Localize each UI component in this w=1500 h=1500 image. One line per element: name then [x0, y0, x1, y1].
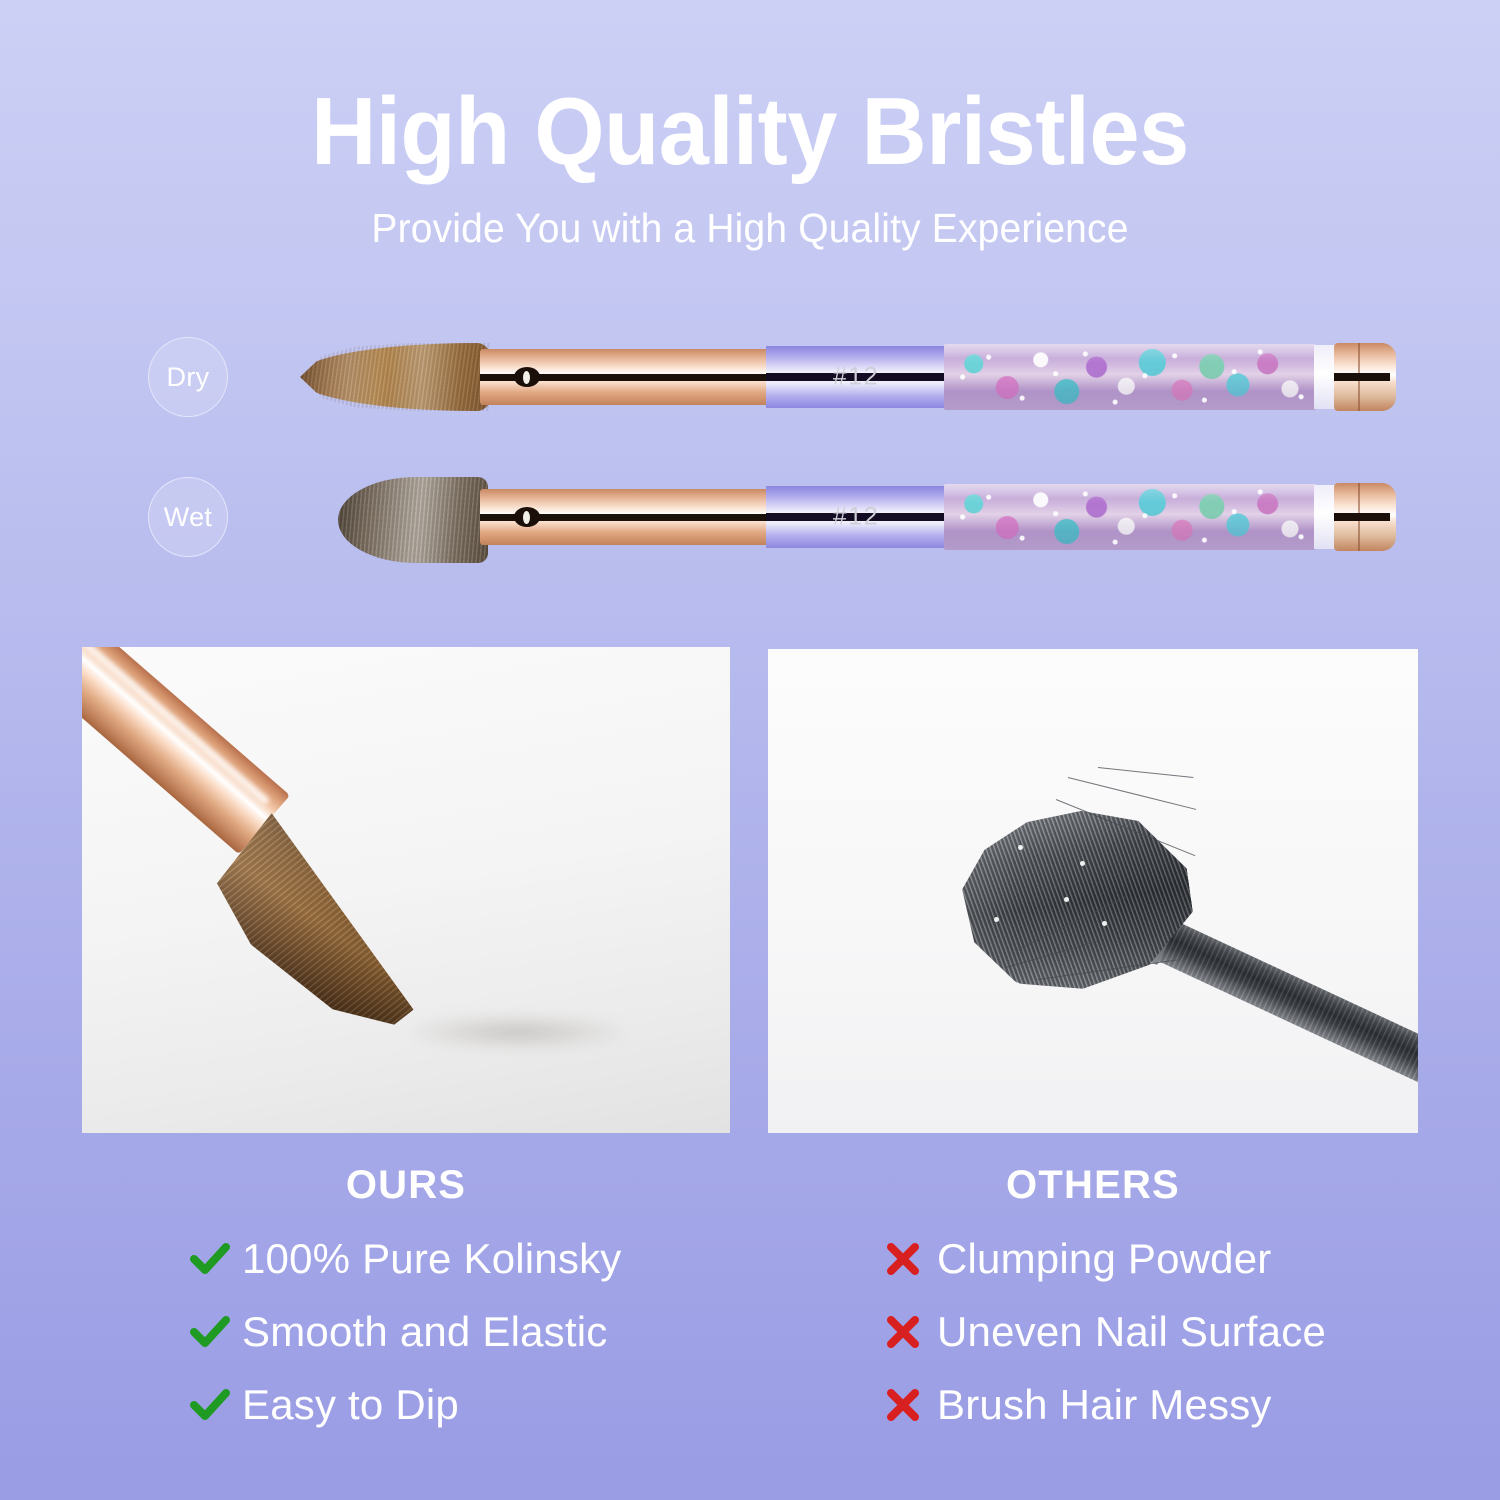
list-item-label: Brush Hair Messy	[937, 1381, 1272, 1429]
column-heading-ours: OURS	[82, 1163, 730, 1208]
check-icon	[190, 1315, 242, 1349]
handle-clear-gap-wet	[1314, 485, 1336, 549]
photo-ours-brush-tip	[82, 647, 730, 1133]
bristle-sparkle	[1080, 861, 1085, 866]
handle-glitter-dry	[944, 344, 1316, 410]
handle-highlight	[82, 647, 270, 806]
list-item-label: 100% Pure Kolinsky	[242, 1235, 621, 1283]
brush-row-wet: Wet #12	[0, 465, 1500, 605]
list-item-label: Uneven Nail Surface	[937, 1308, 1326, 1356]
list-item: Brush Hair Messy	[885, 1368, 1326, 1441]
handle-glitter-wet	[944, 484, 1316, 550]
handle-purple-wet: #12	[766, 486, 946, 548]
photo-others-brush-tip	[768, 649, 1418, 1133]
list-item: 100% Pure Kolinsky	[190, 1222, 621, 1295]
cross-icon	[885, 1242, 937, 1276]
infographic-canvas: High Quality Bristles Provide You with a…	[0, 0, 1500, 1500]
ferrule-crimp-highlight	[523, 511, 530, 524]
end-cap-wet	[1334, 483, 1396, 551]
check-icon	[190, 1388, 242, 1422]
flyaway-hair	[1068, 777, 1196, 810]
ferrule-wet	[480, 489, 770, 545]
list-item-label: Smooth and Elastic	[242, 1308, 607, 1356]
cross-icon	[885, 1388, 937, 1422]
bristle-sparkle	[1102, 921, 1107, 926]
brush-size-label-dry: #12	[766, 363, 946, 392]
brush-size-label-wet: #12	[766, 503, 946, 532]
bristle-sparkle	[1018, 845, 1023, 850]
list-item-label: Clumping Powder	[937, 1235, 1272, 1283]
brush-contact-shadow	[412, 1015, 622, 1049]
handle-clear-gap-dry	[1314, 345, 1336, 409]
ferrule-dry	[480, 349, 770, 405]
brush-row-dry: Dry #12	[0, 325, 1500, 465]
check-icon	[190, 1242, 242, 1276]
page-title: High Quality Bristles	[45, 82, 1455, 183]
state-badge-dry: Dry	[148, 337, 228, 417]
page-subtitle: Provide You with a High Quality Experien…	[38, 205, 1463, 252]
messy-bristle-head	[949, 794, 1202, 1004]
feature-list-ours: 100% Pure Kolinsky Smooth and Elastic Ea…	[190, 1222, 621, 1441]
list-item-label: Easy to Dip	[242, 1381, 459, 1429]
end-cap-crimp-line	[1334, 513, 1390, 521]
ferrule-crimp-highlight	[523, 371, 530, 384]
cross-icon	[885, 1315, 937, 1349]
bristles-wet	[338, 477, 488, 563]
feature-list-others: Clumping Powder Uneven Nail Surface Brus…	[885, 1222, 1326, 1441]
column-heading-others: OTHERS	[768, 1163, 1418, 1208]
state-badge-wet: Wet	[148, 477, 228, 557]
rose-gold-handle	[82, 647, 290, 854]
header: High Quality Bristles Provide You with a…	[0, 82, 1500, 252]
end-cap-dry	[1334, 343, 1396, 411]
dark-brush-shaft	[1154, 919, 1418, 1098]
list-item: Uneven Nail Surface	[885, 1295, 1326, 1368]
list-item: Clumping Powder	[885, 1222, 1326, 1295]
list-item: Smooth and Elastic	[190, 1295, 621, 1368]
state-badge-wet-label: Wet	[164, 502, 212, 533]
state-badge-dry-label: Dry	[167, 362, 210, 393]
end-cap-crimp-line	[1334, 373, 1390, 381]
bristle-sparkle	[994, 917, 999, 922]
bristles-dry	[300, 343, 490, 411]
list-item: Easy to Dip	[190, 1368, 621, 1441]
bristle-sparkle	[1064, 897, 1069, 902]
flyaway-hair	[1098, 767, 1194, 778]
handle-purple-dry: #12	[766, 346, 946, 408]
